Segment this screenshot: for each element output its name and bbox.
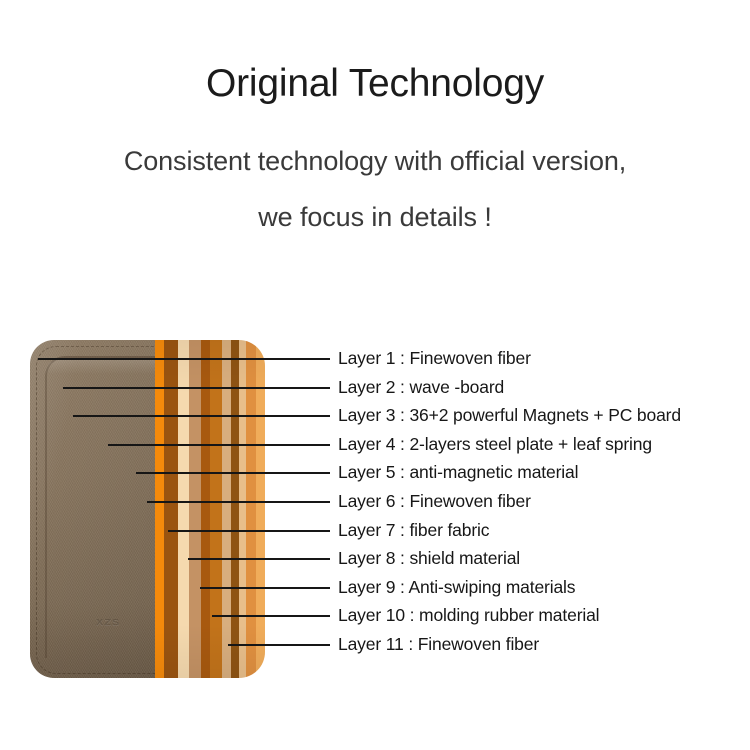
layer-stripe-1 xyxy=(155,340,164,678)
layer-stripe-8 xyxy=(231,340,239,678)
leader-line-2 xyxy=(63,387,330,389)
layer-label-6: Layer 6 : Finewoven fiber xyxy=(338,491,531,512)
layer-label-1: Layer 1 : Finewoven fiber xyxy=(338,348,531,369)
layer-label-3: Layer 3 : 36+2 powerful Magnets + PC boa… xyxy=(338,405,681,426)
layer-stripe-10 xyxy=(246,340,256,678)
leader-line-1 xyxy=(38,358,330,360)
layer-label-10: Layer 10 : molding rubber material xyxy=(338,605,599,626)
product-layer-diagram: XZS Layer 1 : Finewoven fiberLayer 2 : w… xyxy=(0,0,750,750)
layer-label-9: Layer 9 : Anti-swiping materials xyxy=(338,577,575,598)
leader-line-6 xyxy=(147,501,330,503)
layer-label-8: Layer 8 : shield material xyxy=(338,548,520,569)
layer-label-11: Layer 11 : Finewoven fiber xyxy=(338,634,539,655)
layer-stripe-6 xyxy=(210,340,222,678)
layer-stripe-9 xyxy=(239,340,246,678)
leader-line-7 xyxy=(168,530,330,532)
layer-label-2: Layer 2 : wave -board xyxy=(338,377,504,398)
layer-label-7: Layer 7 : fiber fabric xyxy=(338,520,489,541)
layer-stripe-4 xyxy=(189,340,201,678)
leader-line-8 xyxy=(188,558,330,560)
layer-stripe-5 xyxy=(201,340,210,678)
leader-line-10 xyxy=(212,615,330,617)
leader-line-5 xyxy=(136,472,330,474)
layer-stripe-stack xyxy=(155,340,265,678)
leader-line-3 xyxy=(73,415,330,417)
leader-line-11 xyxy=(228,644,330,646)
wallet-leather-body xyxy=(30,340,158,678)
layer-stripe-11 xyxy=(256,340,265,678)
layer-label-4: Layer 4 : 2-layers steel plate + leaf sp… xyxy=(338,434,652,455)
leader-line-4 xyxy=(108,444,330,446)
layer-label-5: Layer 5 : anti-magnetic material xyxy=(338,462,578,483)
layer-stripe-3 xyxy=(178,340,189,678)
layer-stripe-7 xyxy=(222,340,231,678)
leader-line-9 xyxy=(200,587,330,589)
layer-stripe-2 xyxy=(164,340,178,678)
